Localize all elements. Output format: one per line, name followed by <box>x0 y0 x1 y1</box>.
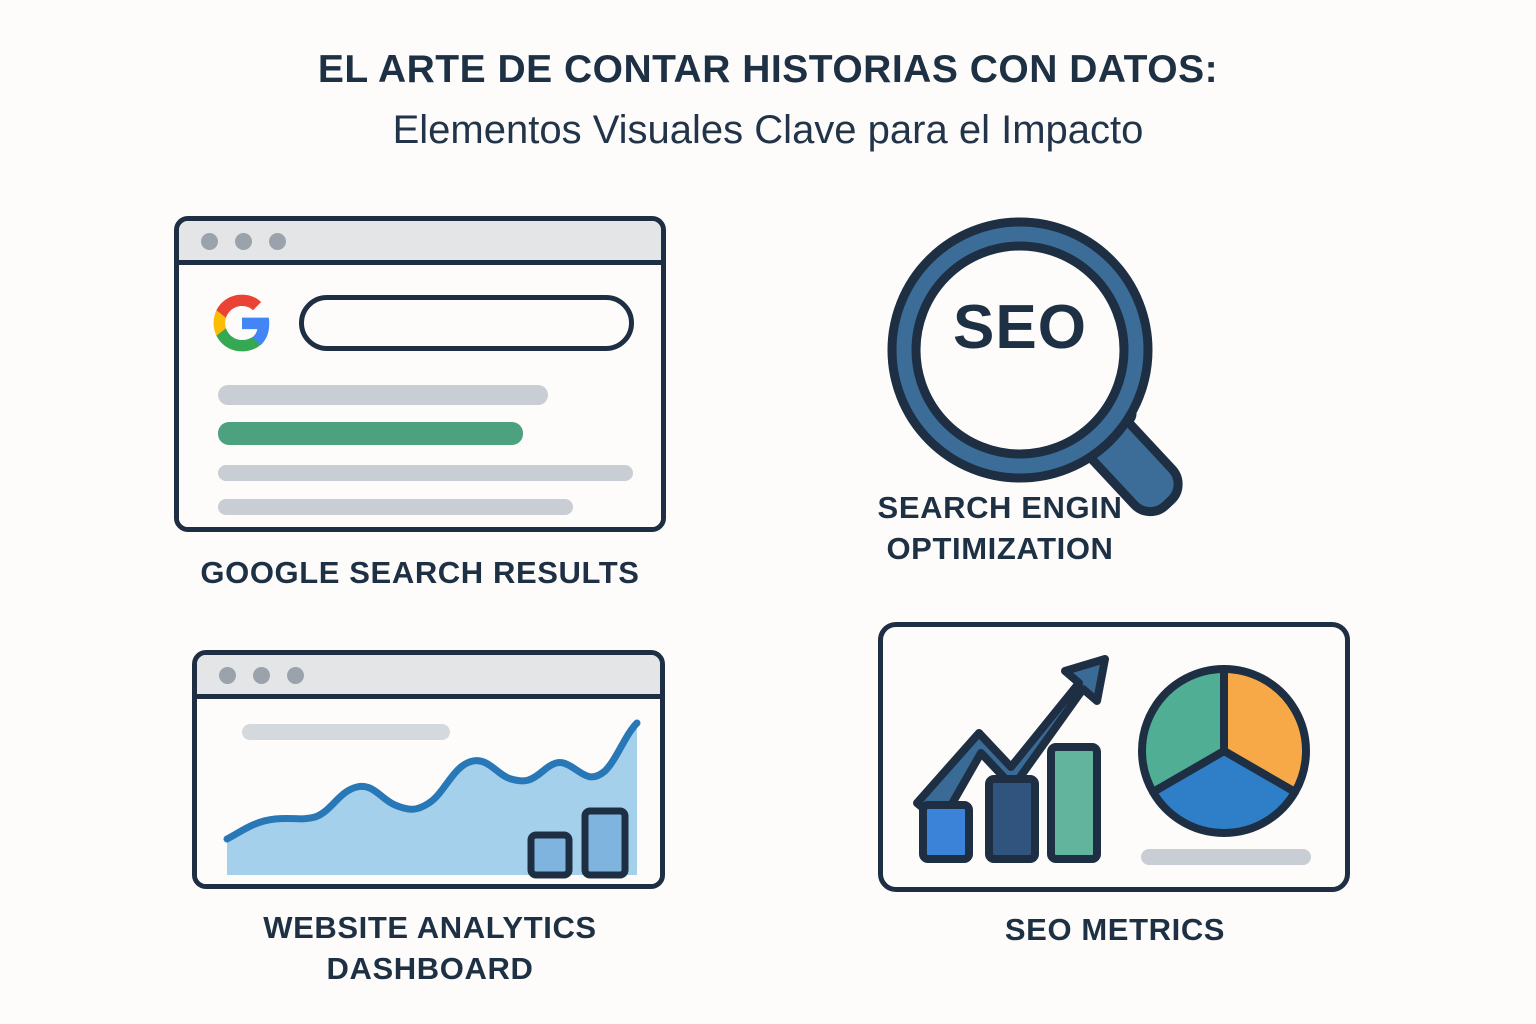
metrics-placeholder-bar <box>1141 849 1311 865</box>
search-result-bar-highlighted <box>218 422 523 445</box>
seo-magnifier-graphic: SEO <box>880 210 1220 520</box>
search-input[interactable] <box>299 295 634 351</box>
google-g-logo-icon <box>211 292 273 354</box>
metrics-bar-high <box>1051 747 1097 859</box>
caption-seo-metrics: SEO METRICS <box>900 910 1330 951</box>
browser-titlebar <box>179 221 661 265</box>
google-search-results-panel <box>174 216 666 532</box>
search-result-bar <box>218 385 548 405</box>
website-analytics-dashboard-panel <box>192 650 665 889</box>
metrics-bar-low <box>923 805 969 859</box>
seo-metrics-card <box>878 622 1350 892</box>
window-close-dot-icon[interactable] <box>219 667 236 684</box>
caption-seo-line-2: OPTIMIZATION <box>790 529 1210 570</box>
analytics-area-chart <box>197 699 660 884</box>
metrics-pie-chart <box>1142 669 1306 833</box>
magnifying-glass-icon <box>880 210 1220 520</box>
caption-seo-line-1: SEARCH ENGIN <box>790 488 1210 529</box>
browser-content <box>179 265 661 527</box>
caption-search-engine-optimization: SEARCH ENGIN OPTIMIZATION <box>790 488 1210 570</box>
page-title: EL ARTE DE CONTAR HISTORIAS CON DATOS: E… <box>0 48 1536 154</box>
caption-analytics-line-1: WEBSITE ANALYTICS <box>160 908 700 949</box>
caption-analytics-line-2: DASHBOARD <box>160 949 700 990</box>
window-maximize-dot-icon[interactable] <box>287 667 304 684</box>
window-maximize-dot-icon[interactable] <box>269 233 286 250</box>
seo-lens-text: SEO <box>920 292 1120 363</box>
overlay-bar-a <box>531 835 569 875</box>
window-minimize-dot-icon[interactable] <box>235 233 252 250</box>
page-title-line-1: EL ARTE DE CONTAR HISTORIAS CON DATOS: <box>0 48 1536 93</box>
browser-content <box>197 699 660 884</box>
caption-google-search-results: GOOGLE SEARCH RESULTS <box>170 553 670 594</box>
metrics-bar-medium <box>989 779 1035 859</box>
window-close-dot-icon[interactable] <box>201 233 218 250</box>
overlay-bar-b <box>585 811 625 875</box>
search-result-bar <box>218 499 573 515</box>
caption-website-analytics-dashboard: WEBSITE ANALYTICS DASHBOARD <box>160 908 700 990</box>
search-result-bar <box>218 465 633 481</box>
browser-titlebar <box>197 655 660 699</box>
page-title-subtitle: Elementos Visuales Clave para el Impacto <box>0 107 1536 154</box>
seo-metrics-graphic <box>883 627 1345 887</box>
window-minimize-dot-icon[interactable] <box>253 667 270 684</box>
